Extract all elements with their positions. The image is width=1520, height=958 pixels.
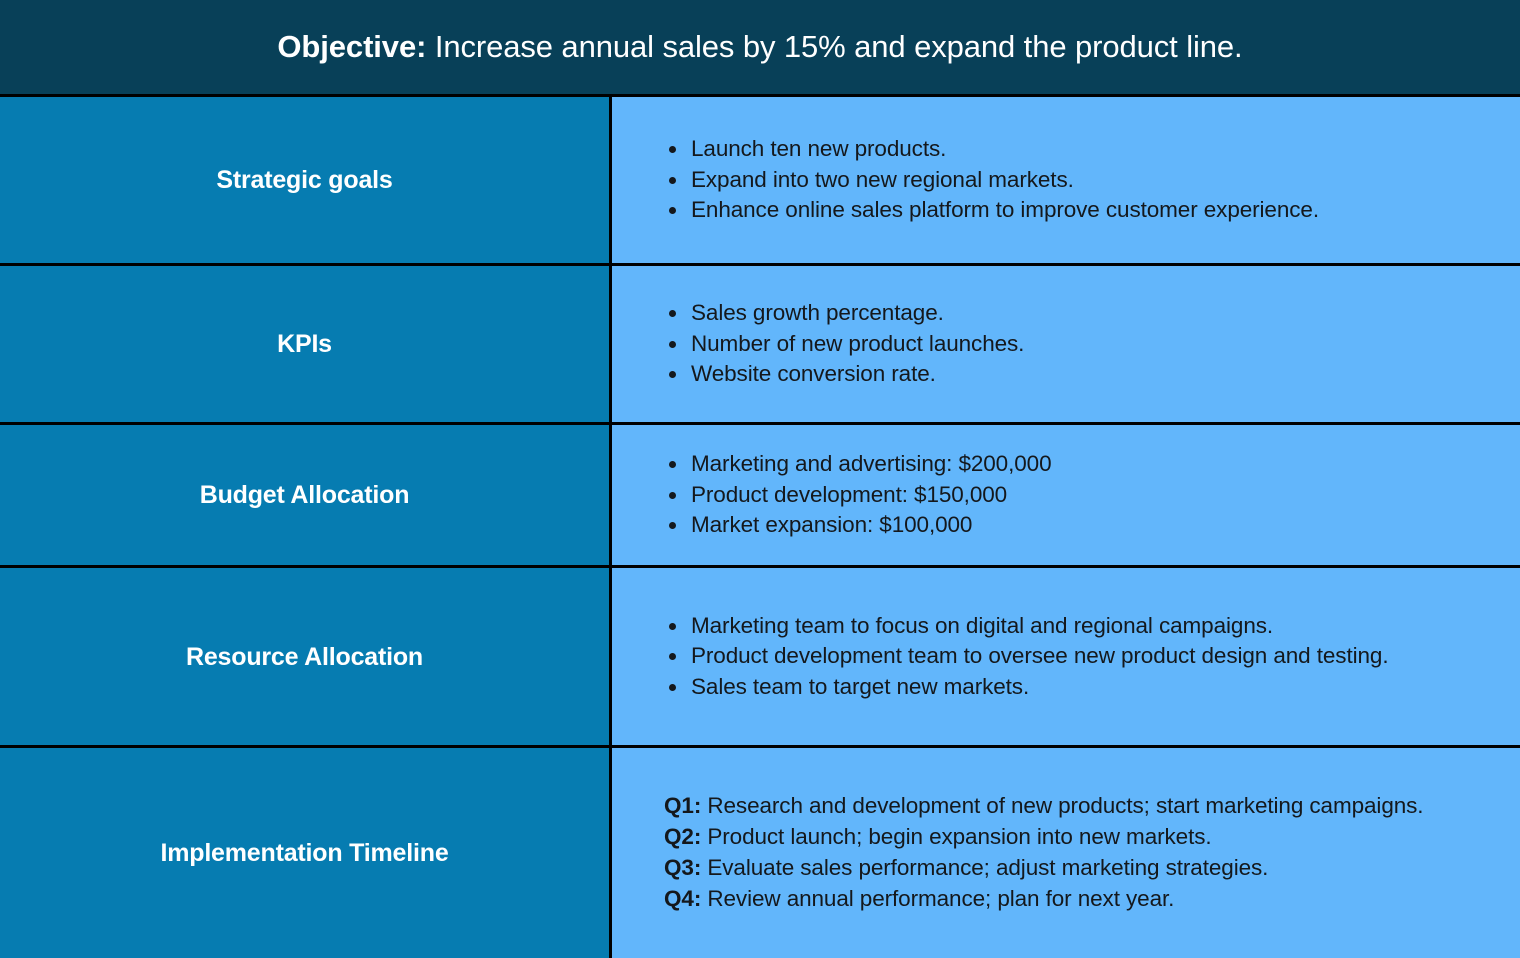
quarter-text: Review annual performance; plan for next… (701, 886, 1174, 911)
quarter-label: Q3: (664, 855, 701, 880)
row-label-cell-strategic-goals: Strategic goals (0, 97, 612, 263)
quarter-item-q4: Q4: Review annual performance; plan for … (664, 884, 1480, 915)
quarter-label: Q1: (664, 793, 701, 818)
bullet-list: Launch ten new products. Expand into two… (664, 134, 1480, 226)
row-label-cell-resource-allocation: Resource Allocation (0, 568, 612, 745)
list-item: Marketing team to focus on digital and r… (664, 611, 1480, 642)
row-label: Resource Allocation (186, 642, 423, 672)
plan-table-body: Strategic goals Launch ten new products.… (0, 97, 1520, 958)
list-item: Market expansion: $100,000 (664, 510, 1480, 541)
row-content-cell-strategic-goals: Launch ten new products. Expand into two… (612, 97, 1520, 263)
row-label: Implementation Timeline (160, 838, 448, 868)
row-label: Strategic goals (216, 165, 392, 195)
row-content-cell-budget-allocation: Marketing and advertising: $200,000 Prod… (612, 425, 1520, 565)
row-content-cell-resource-allocation: Marketing team to focus on digital and r… (612, 568, 1520, 745)
table-row: Strategic goals Launch ten new products.… (0, 97, 1520, 266)
quarter-label: Q2: (664, 824, 701, 849)
row-label-cell-kpis: KPIs (0, 266, 612, 422)
table-row: Implementation Timeline Q1: Research and… (0, 748, 1520, 958)
table-row: KPIs Sales growth percentage. Number of … (0, 266, 1520, 425)
bullet-list: Sales growth percentage. Number of new p… (664, 298, 1480, 390)
list-item: Product development: $150,000 (664, 480, 1480, 511)
list-item: Number of new product launches. (664, 329, 1480, 360)
table-row: Resource Allocation Marketing team to fo… (0, 568, 1520, 748)
bullet-list: Marketing team to focus on digital and r… (664, 611, 1480, 703)
bullet-list: Marketing and advertising: $200,000 Prod… (664, 449, 1480, 541)
objective-header: Objective: Increase annual sales by 15% … (0, 0, 1520, 97)
list-item: Expand into two new regional markets. (664, 165, 1480, 196)
list-item: Sales team to target new markets. (664, 672, 1480, 703)
quarter-label: Q4: (664, 886, 701, 911)
quarter-item-q3: Q3: Evaluate sales performance; adjust m… (664, 853, 1480, 884)
list-item: Product development team to oversee new … (664, 641, 1480, 672)
list-item: Marketing and advertising: $200,000 (664, 449, 1480, 480)
row-content-cell-implementation-timeline: Q1: Research and development of new prod… (612, 748, 1520, 958)
page-title: Objective: Increase annual sales by 15% … (277, 29, 1242, 65)
row-label-cell-budget-allocation: Budget Allocation (0, 425, 612, 565)
objective-label: Objective: (277, 29, 426, 64)
list-item: Launch ten new products. (664, 134, 1480, 165)
list-item: Website conversion rate. (664, 359, 1480, 390)
quarter-item-q2: Q2: Product launch; begin expansion into… (664, 822, 1480, 853)
table-row: Budget Allocation Marketing and advertis… (0, 425, 1520, 568)
list-item: Sales growth percentage. (664, 298, 1480, 329)
quarter-text: Research and development of new products… (701, 793, 1423, 818)
list-item: Enhance online sales platform to improve… (664, 195, 1480, 226)
quarter-text: Evaluate sales performance; adjust marke… (701, 855, 1268, 880)
objective-statement: Increase annual sales by 15% and expand … (426, 29, 1242, 64)
quarter-list: Q1: Research and development of new prod… (664, 791, 1480, 914)
quarter-text: Product launch; begin expansion into new… (701, 824, 1211, 849)
row-label: KPIs (277, 329, 332, 359)
row-label-cell-implementation-timeline: Implementation Timeline (0, 748, 612, 958)
objective-plan-table: Objective: Increase annual sales by 15% … (0, 0, 1520, 958)
quarter-item-q1: Q1: Research and development of new prod… (664, 791, 1480, 822)
row-content-cell-kpis: Sales growth percentage. Number of new p… (612, 266, 1520, 422)
row-label: Budget Allocation (200, 480, 410, 510)
